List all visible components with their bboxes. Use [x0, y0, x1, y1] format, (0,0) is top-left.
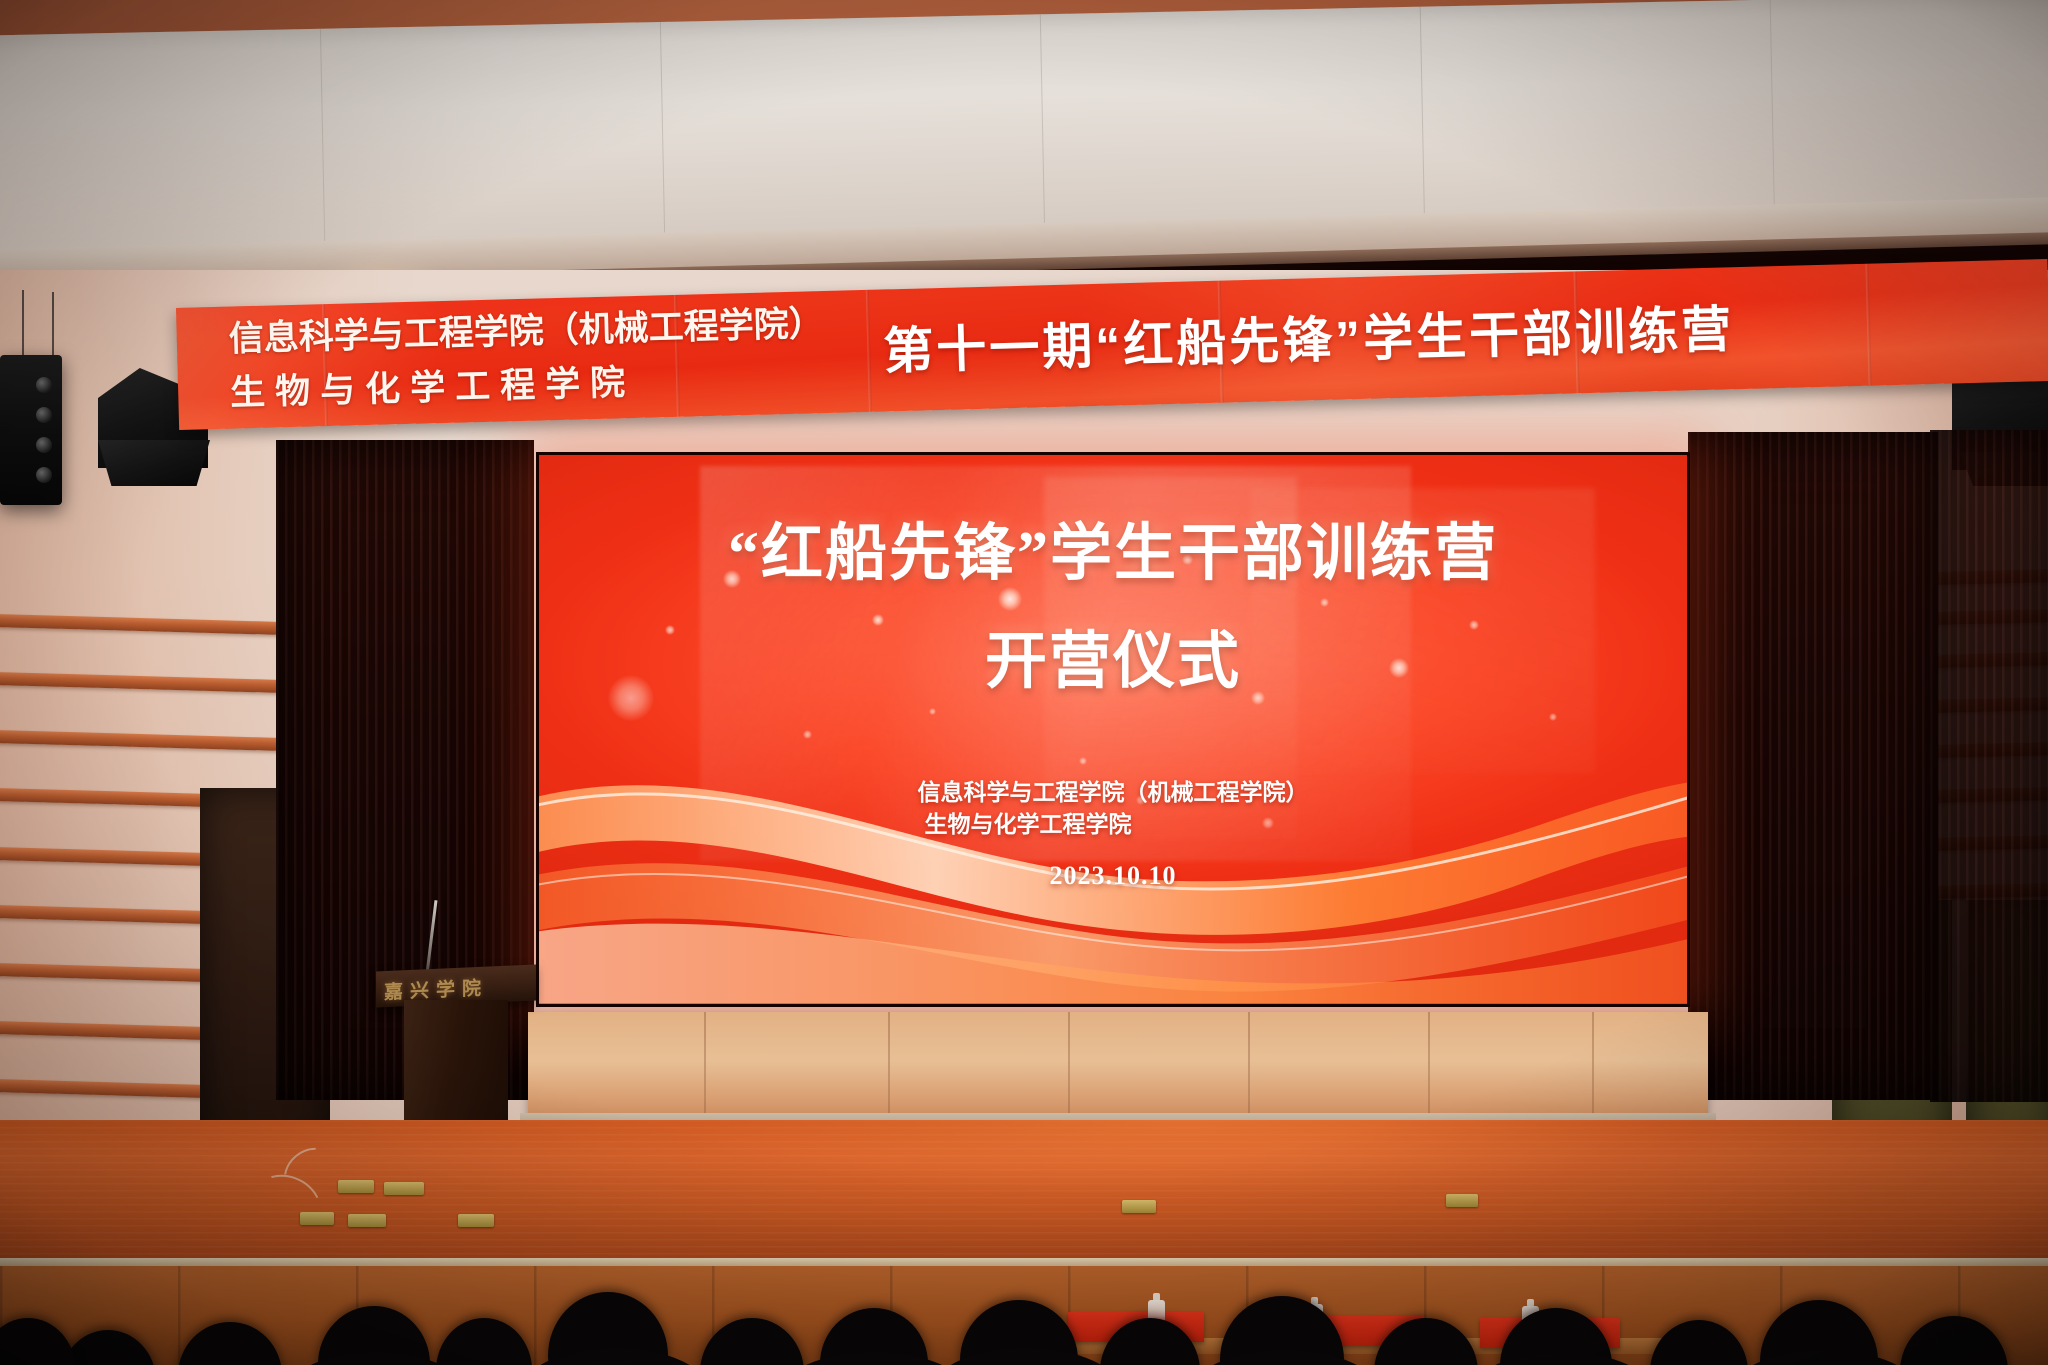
speaker-left: [0, 355, 62, 505]
led-screen: “红船先锋”学生干部训练营 开营仪式 信息科学与工程学院（机械工程学院） 生物与…: [536, 452, 1690, 1007]
banner-org-block: 信息科学与工程学院（机械工程学院） 生物与化学工程学院: [228, 296, 871, 422]
screen-title: “红船先锋”学生干部训练营 开营仪式: [539, 511, 1687, 705]
floor-socket: [458, 1214, 494, 1227]
auditorium-photo: 信息科学与工程学院（机械工程学院） 生物与化学工程学院 第十一期“红船先锋”学生…: [0, 0, 2048, 1365]
banner-headline: 第十一期“红船先锋”学生干部训练营: [882, 289, 1735, 391]
speaker-left-wedge-lower: [98, 440, 210, 486]
floor-socket: [348, 1214, 386, 1227]
screen-subtitle: 信息科学与工程学院（机械工程学院） 生物与化学工程学院: [539, 777, 1687, 841]
bokeh-sparkle: [929, 708, 936, 715]
stage-curtain-right: [1688, 432, 1938, 1100]
screen-subtitle-line-2: 生物与化学工程学院: [539, 809, 1517, 841]
stage-curtain-right-outer: [1930, 430, 2048, 1102]
screen-date: 2023.10.10: [539, 861, 1687, 891]
bokeh-sparkle: [803, 730, 812, 739]
floor-socket: [1446, 1194, 1478, 1207]
screen-title-line-2: 开营仪式: [539, 619, 1687, 705]
screen-subtitle-line-1: 信息科学与工程学院（机械工程学院）: [918, 780, 1309, 805]
stage-back-panels: [528, 1012, 1708, 1120]
floor-socket: [338, 1180, 374, 1193]
podium-nameplate: 嘉兴学院: [384, 972, 504, 1001]
floor-socket: [1122, 1200, 1156, 1213]
floor-socket: [384, 1182, 424, 1195]
screen-title-line-1: “红船先锋”学生干部训练营: [728, 520, 1498, 588]
